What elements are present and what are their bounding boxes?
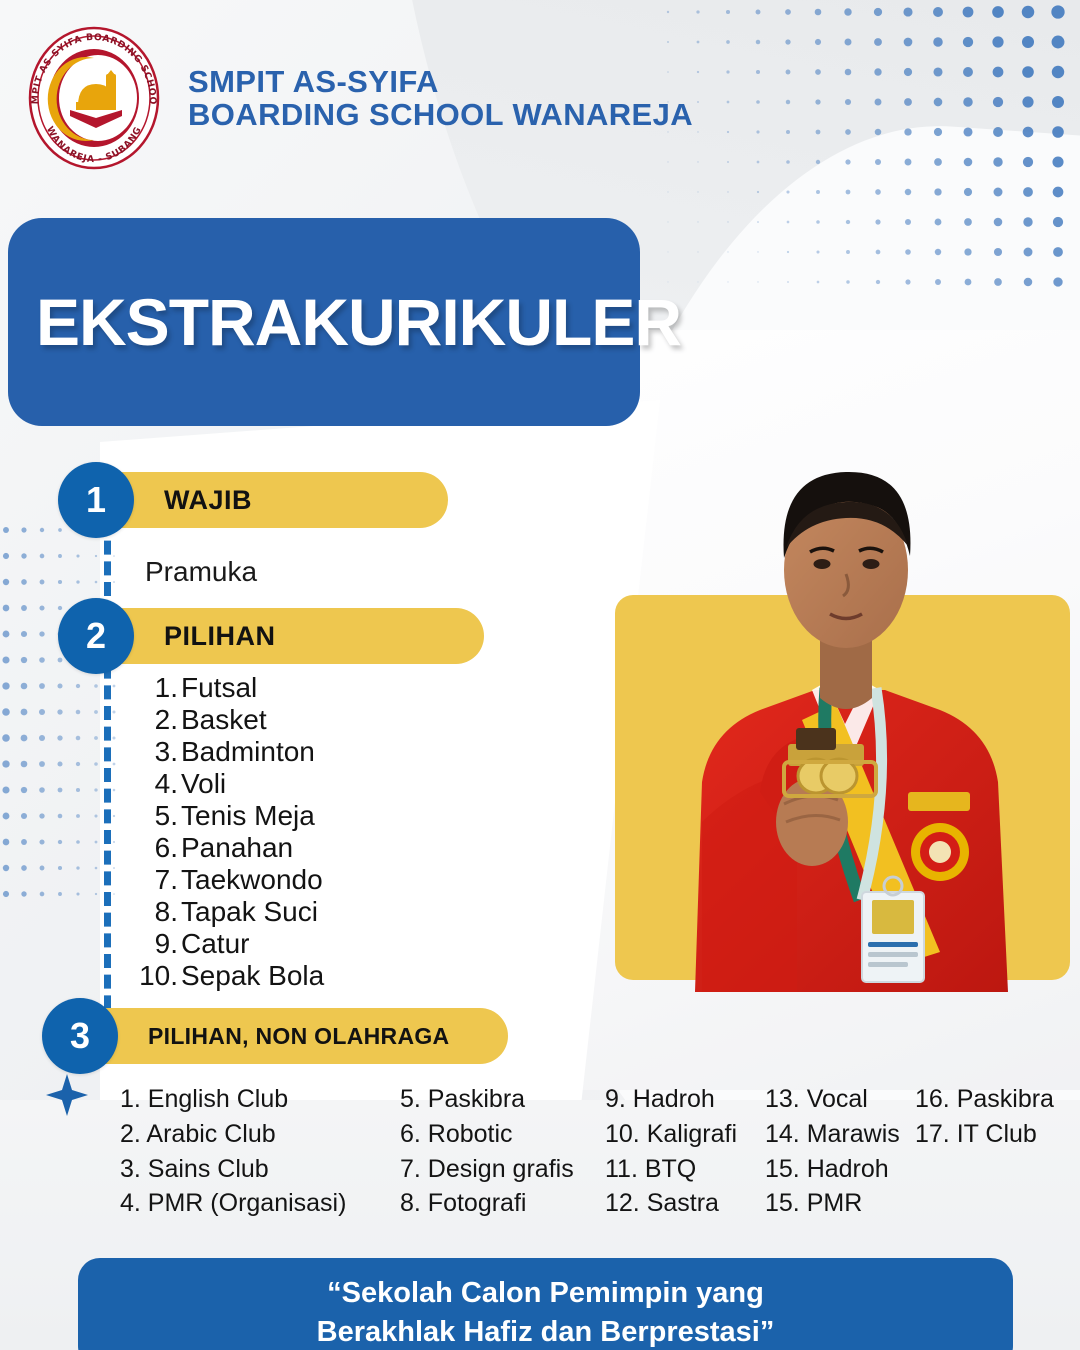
nonsport-item: 1. English Club bbox=[120, 1082, 400, 1117]
sport-item: 7.Taekwondo bbox=[120, 864, 450, 896]
section-label-2: PILIHAN bbox=[164, 621, 276, 652]
section-number-1: 1 bbox=[58, 462, 134, 538]
sport-item-number: 5. bbox=[120, 800, 178, 832]
nonsports-column-4: 13. Vocal14. Marawis15. Hadroh15. PMR bbox=[765, 1082, 915, 1221]
nonsports-column-5: 16. Paskibra17. IT Club bbox=[915, 1082, 1075, 1221]
sport-item-label: Catur bbox=[178, 928, 249, 960]
school-name: SMPIT AS-SYIFA BOARDING SCHOOL WANAREJA bbox=[188, 65, 693, 132]
sport-item: 9.Catur bbox=[120, 928, 450, 960]
sport-item: 6.Panahan bbox=[120, 832, 450, 864]
sport-item-label: Sepak Bola bbox=[178, 960, 324, 992]
poster-root: SMPIT AS-SYIFA BOARDING SCHOOL WANAREJA … bbox=[0, 0, 1080, 1350]
page-title: EKSTRAKURIKULER bbox=[36, 284, 681, 360]
sport-item-label: Voli bbox=[178, 768, 226, 800]
tagline-line-1: “Sekolah Calon Pemimpin yang bbox=[327, 1274, 764, 1313]
nonsports-column-2: 5. Paskibra6. Robotic7. Design grafis8. … bbox=[400, 1082, 605, 1221]
nonsport-item: 15. Hadroh bbox=[765, 1152, 915, 1187]
sport-item-number: 3. bbox=[120, 736, 178, 768]
sport-item-number: 2. bbox=[120, 704, 178, 736]
sport-item: 8.Tapak Suci bbox=[120, 896, 450, 928]
school-name-line-1: SMPIT AS-SYIFA bbox=[188, 65, 693, 98]
nonsport-item: 11. BTQ bbox=[605, 1152, 765, 1187]
nonsport-item: 14. Marawis bbox=[765, 1117, 915, 1152]
sport-item: 5.Tenis Meja bbox=[120, 800, 450, 832]
sport-item-number: 4. bbox=[120, 768, 178, 800]
sport-item: 1.Futsal bbox=[120, 672, 450, 704]
nonsport-item: 15. PMR bbox=[765, 1186, 915, 1221]
sport-item-label: Badminton bbox=[178, 736, 315, 768]
tagline-banner: “Sekolah Calon Pemimpin yang Berakhlak H… bbox=[78, 1258, 1013, 1350]
section-label-pill-3: PILIHAN, NON OLAHRAGA bbox=[92, 1008, 508, 1064]
sport-item-label: Tenis Meja bbox=[178, 800, 315, 832]
section-number-2: 2 bbox=[58, 598, 134, 674]
nonsport-item: 13. Vocal bbox=[765, 1082, 915, 1117]
section-number-3: 3 bbox=[42, 998, 118, 1074]
sport-item: 10.Sepak Bola bbox=[120, 960, 450, 992]
nonsport-item: 10. Kaligrafi bbox=[605, 1117, 765, 1152]
section-wajib: 1 WAJIB bbox=[58, 462, 448, 538]
sport-item-label: Basket bbox=[178, 704, 267, 736]
sport-item: 4.Voli bbox=[120, 768, 450, 800]
nonsport-item: 8. Fotografi bbox=[400, 1186, 605, 1221]
sport-item-number: 1. bbox=[120, 672, 178, 704]
sparkle-icon bbox=[44, 1072, 90, 1123]
nonsports-column-3: 9. Hadroh10. Kaligrafi11. BTQ12. Sastra bbox=[605, 1082, 765, 1221]
timeline-connector bbox=[104, 520, 111, 1030]
sport-item-label: Futsal bbox=[178, 672, 257, 704]
sport-item-label: Tapak Suci bbox=[178, 896, 318, 928]
nonsport-item: 3. Sains Club bbox=[120, 1152, 400, 1187]
nonsport-item: 17. IT Club bbox=[915, 1117, 1075, 1152]
section-label-pill-2: PILIHAN bbox=[108, 608, 484, 664]
tagline-line-2: Berakhlak Hafiz dan Berprestasi” bbox=[317, 1313, 775, 1350]
sports-list: 1.Futsal2.Basket3.Badminton4.Voli5.Tenis… bbox=[120, 672, 450, 992]
sport-item: 3.Badminton bbox=[120, 736, 450, 768]
section-label-1: WAJIB bbox=[164, 485, 252, 516]
section-label-pill-1: WAJIB bbox=[108, 472, 448, 528]
nonsport-item: 4. PMR (Organisasi) bbox=[120, 1186, 400, 1221]
nonsport-item: 7. Design grafis bbox=[400, 1152, 605, 1187]
sport-item-number: 6. bbox=[120, 832, 178, 864]
sport-item-number: 10. bbox=[120, 960, 178, 992]
school-logo: SMPIT AS-SYIFA BOARDING SCHOOL WANAREJA … bbox=[18, 22, 170, 174]
nonsport-item: 16. Paskibra bbox=[915, 1082, 1075, 1117]
nonsport-item: 2. Arabic Club bbox=[120, 1117, 400, 1152]
sport-item: 2.Basket bbox=[120, 704, 450, 736]
section-pilihan: 2 PILIHAN bbox=[58, 598, 484, 674]
student-photo bbox=[640, 352, 1050, 992]
nonsport-item: 9. Hadroh bbox=[605, 1082, 765, 1117]
nonsport-item: 12. Sastra bbox=[605, 1186, 765, 1221]
section-pilihan-non-olahraga: 3 PILIHAN, NON OLAHRAGA bbox=[42, 998, 508, 1074]
section-label-3: PILIHAN, NON OLAHRAGA bbox=[148, 1023, 449, 1050]
sport-item-label: Panahan bbox=[178, 832, 293, 864]
nonsports-list: 1. English Club2. Arabic Club3. Sains Cl… bbox=[120, 1082, 1075, 1221]
sport-item-number: 8. bbox=[120, 896, 178, 928]
title-banner: EKSTRAKURIKULER bbox=[8, 218, 640, 426]
nonsport-item: 5. Paskibra bbox=[400, 1082, 605, 1117]
sport-item-number: 9. bbox=[120, 928, 178, 960]
nonsport-item: 6. Robotic bbox=[400, 1117, 605, 1152]
header: SMPIT AS-SYIFA BOARDING SCHOOL WANAREJA … bbox=[18, 22, 693, 174]
sport-item-label: Taekwondo bbox=[178, 864, 323, 896]
nonsports-column-1: 1. English Club2. Arabic Club3. Sains Cl… bbox=[120, 1082, 400, 1221]
wajib-item: Pramuka bbox=[145, 556, 257, 588]
school-name-line-2: BOARDING SCHOOL WANAREJA bbox=[188, 98, 693, 131]
sport-item-number: 7. bbox=[120, 864, 178, 896]
